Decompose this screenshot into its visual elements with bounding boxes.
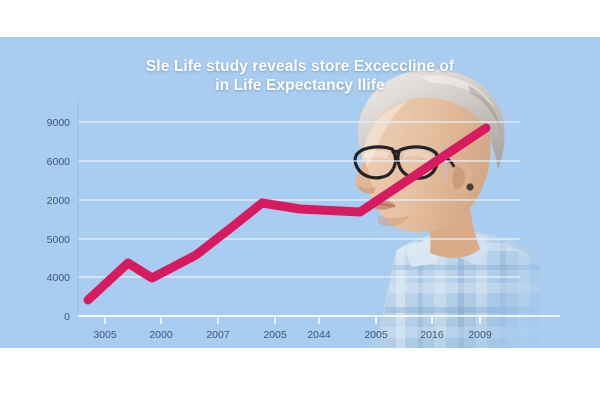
x-tick-4: 2044 [307,329,331,341]
y-tick-4: 4000 [47,272,71,284]
y-tick-1: 6000 [47,156,71,168]
x-tick-0: 3005 [93,329,117,341]
y-axis-ticklabels: 9000 6000 2000 5000 4000 0 [47,117,71,323]
x-tick-2: 2007 [206,329,230,341]
x-tick-7: 2009 [468,329,492,341]
infographic-root: 9000 6000 2000 5000 4000 0 3005 2000 200… [0,0,600,400]
data-line-life-expectancy [88,128,486,300]
y-tick-0: 9000 [47,117,71,129]
y-tick-5: 0 [64,311,70,323]
x-tick-1: 2000 [149,329,173,341]
x-tick-5: 2005 [364,329,388,341]
x-axis-ticklabels: 3005 2000 2007 2005 2044 2005 2016 2009 [93,329,492,341]
chart-panel: 9000 6000 2000 5000 4000 0 3005 2000 200… [0,37,600,348]
x-tick-3: 2005 [263,329,287,341]
x-tick-6: 2016 [420,329,444,341]
y-tick-2: 2000 [47,195,71,207]
y-tick-3: 5000 [47,234,71,246]
line-chart: 9000 6000 2000 5000 4000 0 3005 2000 200… [0,37,600,348]
